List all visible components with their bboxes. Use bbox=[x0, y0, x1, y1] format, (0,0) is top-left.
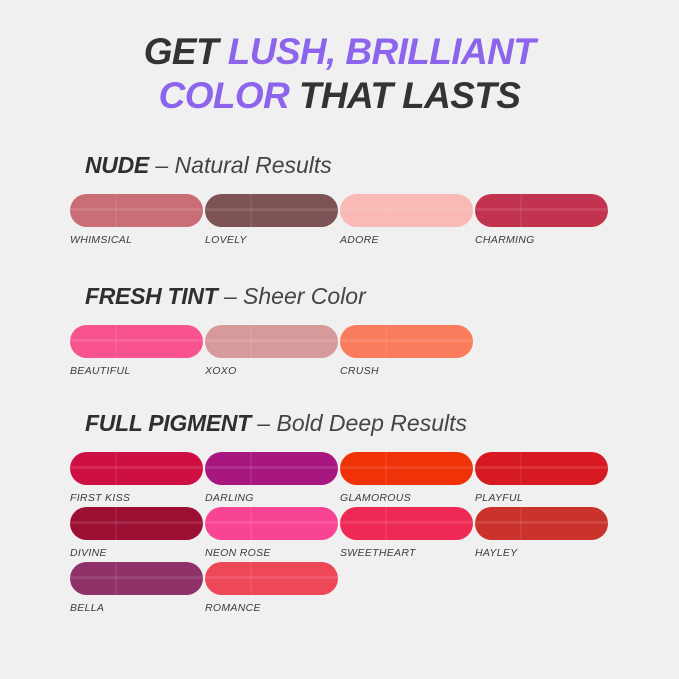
headline-line-2: COLOR THAT LASTS bbox=[0, 74, 679, 118]
swatch-label: LOVELY bbox=[205, 234, 338, 246]
swatch-hayley[interactable]: HAYLEY bbox=[475, 507, 608, 559]
swatch-bella[interactable]: BELLA bbox=[70, 562, 203, 614]
section-title: FRESH TINT bbox=[85, 283, 217, 309]
swatch-label: DARLING bbox=[205, 492, 338, 504]
headline-lush-brilliant: LUSH, BRILLIANT bbox=[228, 31, 536, 72]
swatch-adore[interactable]: ADORE bbox=[340, 194, 473, 246]
swatch-beautiful[interactable]: BEAUTIFUL bbox=[70, 325, 203, 377]
swatch-xoxo[interactable]: XOXO bbox=[205, 325, 338, 377]
swatch-chip-lovely[interactable] bbox=[205, 194, 338, 227]
swatch-chip-divine[interactable] bbox=[70, 507, 203, 540]
section-subtitle: – Bold Deep Results bbox=[251, 410, 467, 436]
swatch-neon-rose[interactable]: NEON ROSE bbox=[205, 507, 338, 559]
swatch-chip-whimsical[interactable] bbox=[70, 194, 203, 227]
swatch-label: DIVINE bbox=[70, 547, 203, 559]
swatch-label: BELLA bbox=[70, 602, 203, 614]
swatch-label: WHIMSICAL bbox=[70, 234, 203, 246]
swatch-label: CRUSH bbox=[340, 365, 473, 377]
swatch-chip-adore[interactable] bbox=[340, 194, 473, 227]
swatch-chip-bella[interactable] bbox=[70, 562, 203, 595]
section-full-pigment: FULL PIGMENT – Bold Deep ResultsFIRST KI… bbox=[0, 410, 679, 617]
section-title: FULL PIGMENT bbox=[85, 410, 251, 436]
swatch-row: BEAUTIFULXOXOCRUSH bbox=[70, 325, 679, 380]
swatch-chip-sweetheart[interactable] bbox=[340, 507, 473, 540]
swatch-label: ADORE bbox=[340, 234, 473, 246]
swatch-row: WHIMSICALLOVELYADORECHARMING bbox=[70, 194, 679, 249]
swatch-chip-darling[interactable] bbox=[205, 452, 338, 485]
swatch-chip-charming[interactable] bbox=[475, 194, 608, 227]
swatch-chip-beautiful[interactable] bbox=[70, 325, 203, 358]
swatch-chip-playful[interactable] bbox=[475, 452, 608, 485]
page-headline: GET LUSH, BRILLIANT COLOR THAT LASTS bbox=[0, 30, 679, 118]
headline-that-lasts: THAT LASTS bbox=[299, 75, 520, 116]
section-title: NUDE bbox=[85, 152, 149, 178]
swatch-label: HAYLEY bbox=[475, 547, 608, 559]
section-header-nude: NUDE – Natural Results bbox=[85, 152, 679, 178]
section-nude: NUDE – Natural ResultsWHIMSICALLOVELYADO… bbox=[0, 152, 679, 249]
swatch-lovely[interactable]: LOVELY bbox=[205, 194, 338, 246]
swatch-chip-crush[interactable] bbox=[340, 325, 473, 358]
swatch-darling[interactable]: DARLING bbox=[205, 452, 338, 504]
swatch-chip-xoxo[interactable] bbox=[205, 325, 338, 358]
swatch-label: XOXO bbox=[205, 365, 338, 377]
swatch-romance[interactable]: ROMANCE bbox=[205, 562, 338, 614]
swatch-chip-neon-rose[interactable] bbox=[205, 507, 338, 540]
lipstick-shade-chart: GET LUSH, BRILLIANT COLOR THAT LASTS NUD… bbox=[0, 0, 679, 679]
swatch-row: DIVINENEON ROSESWEETHEARTHAYLEY bbox=[70, 507, 679, 562]
section-header-fresh-tint: FRESH TINT – Sheer Color bbox=[85, 283, 679, 309]
swatch-label: NEON ROSE bbox=[205, 547, 338, 559]
swatch-first-kiss[interactable]: FIRST KISS bbox=[70, 452, 203, 504]
swatch-label: GLAMOROUS bbox=[340, 492, 473, 504]
section-subtitle: – Natural Results bbox=[149, 152, 332, 178]
swatch-row: BELLAROMANCE bbox=[70, 562, 679, 617]
headline-line-1: GET LUSH, BRILLIANT bbox=[0, 30, 679, 74]
swatch-chip-glamorous[interactable] bbox=[340, 452, 473, 485]
swatch-label: FIRST KISS bbox=[70, 492, 203, 504]
swatch-chip-romance[interactable] bbox=[205, 562, 338, 595]
swatch-glamorous[interactable]: GLAMOROUS bbox=[340, 452, 473, 504]
swatch-label: BEAUTIFUL bbox=[70, 365, 203, 377]
swatch-charming[interactable]: CHARMING bbox=[475, 194, 608, 246]
swatch-chip-first-kiss[interactable] bbox=[70, 452, 203, 485]
swatch-label: CHARMING bbox=[475, 234, 608, 246]
headline-get: GET bbox=[144, 31, 228, 72]
swatch-label: SWEETHEART bbox=[340, 547, 473, 559]
section-header-full-pigment: FULL PIGMENT – Bold Deep Results bbox=[85, 410, 679, 436]
swatch-divine[interactable]: DIVINE bbox=[70, 507, 203, 559]
headline-color: COLOR bbox=[159, 75, 299, 116]
swatch-row: FIRST KISSDARLINGGLAMOROUSPLAYFUL bbox=[70, 452, 679, 507]
swatch-label: ROMANCE bbox=[205, 602, 338, 614]
swatch-sweetheart[interactable]: SWEETHEART bbox=[340, 507, 473, 559]
section-subtitle: – Sheer Color bbox=[217, 283, 365, 309]
section-fresh-tint: FRESH TINT – Sheer ColorBEAUTIFULXOXOCRU… bbox=[0, 283, 679, 380]
swatch-chip-hayley[interactable] bbox=[475, 507, 608, 540]
swatch-label: PLAYFUL bbox=[475, 492, 608, 504]
swatch-playful[interactable]: PLAYFUL bbox=[475, 452, 608, 504]
swatch-whimsical[interactable]: WHIMSICAL bbox=[70, 194, 203, 246]
swatch-crush[interactable]: CRUSH bbox=[340, 325, 473, 377]
